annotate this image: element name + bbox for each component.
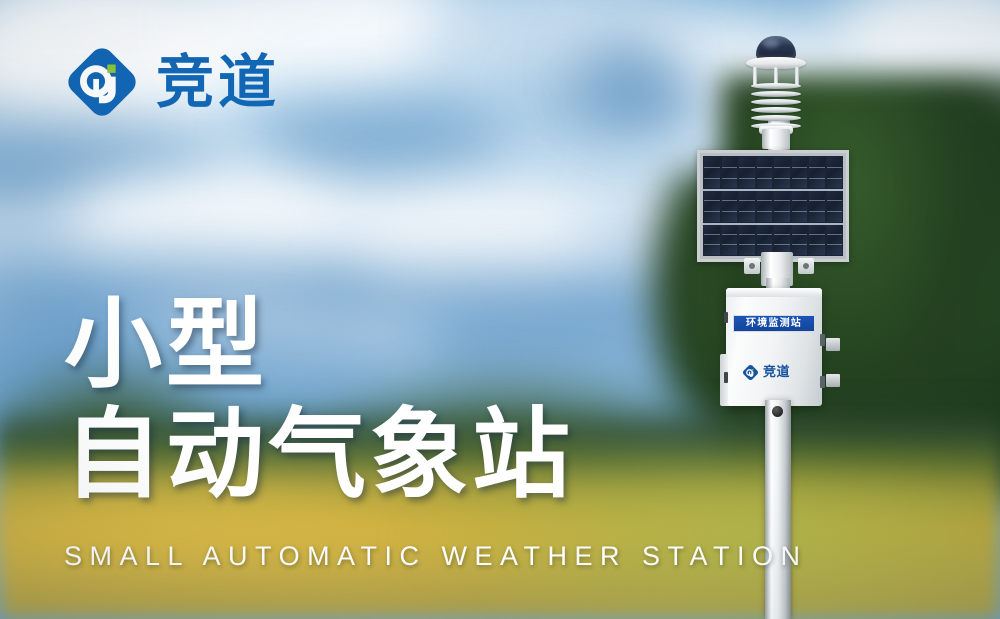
control-box-banner: 环境监测站 [733,315,815,332]
solar-panel-bracket [744,258,760,274]
ultrasonic-weather-sensor-icon [742,36,810,148]
solar-panel-icon [697,150,849,262]
control-box-logo: 竞道 [742,364,790,381]
side-bracket [826,374,840,387]
side-bracket [826,338,840,351]
control-box-logo-text: 竞道 [763,366,790,379]
jingdao-diamond-logo-icon [742,364,759,381]
control-box-banner-label: 环境监测站 [746,319,802,329]
solar-cell-grid [703,156,843,256]
brand-logo: 竞道 [64,44,280,120]
control-box-latch [724,312,728,323]
mounting-pole-lower [765,400,791,619]
solar-panel-bracket [798,258,814,274]
headline-line-1: 小型 [64,296,574,394]
product-banner: 环境监测站 竞道 [0,0,1000,619]
control-box-latch [724,372,728,383]
pole-bolt [772,406,783,417]
control-box-latch [820,376,825,388]
subtitle: SMALL AUTOMATIC WEATHER STATION [64,541,808,572]
control-box-top [726,288,822,297]
brand-name: 竞道 [156,53,280,111]
control-box-latch [820,334,825,346]
control-box: 环境监测站 竞道 [726,288,822,406]
page-title: 小型 自动气象站 [64,296,574,504]
sensor-stem [762,129,790,149]
jingdao-diamond-logo-icon [64,44,140,120]
headline-line-2: 自动气象站 [64,406,574,504]
